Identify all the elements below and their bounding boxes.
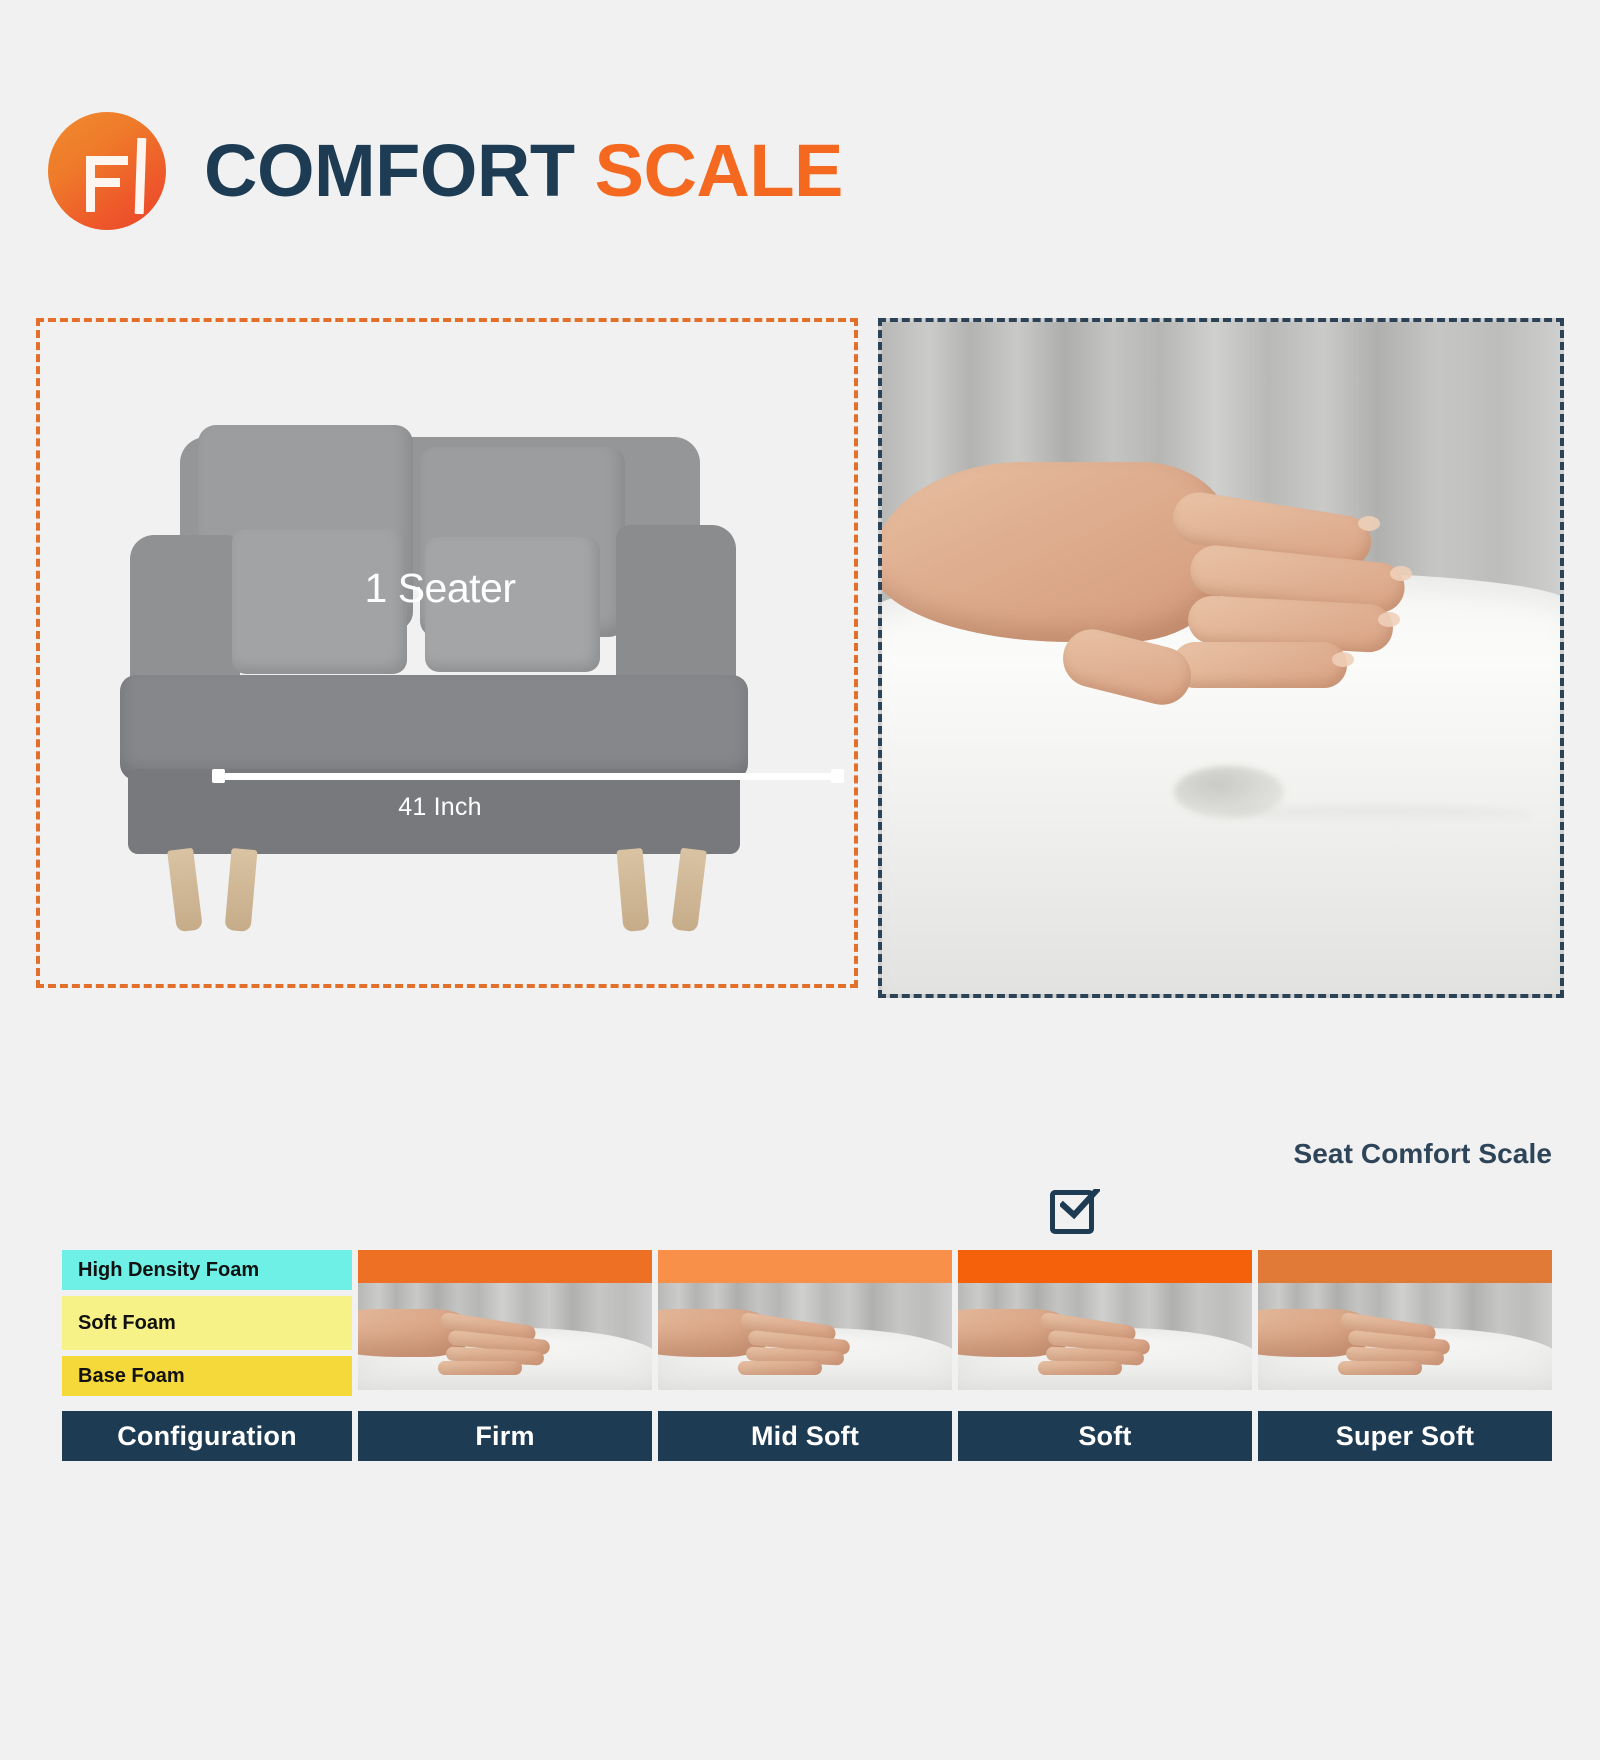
dimension-label: 41 Inch [120, 793, 760, 822]
table-header-row: Configuration Firm Mid Soft Soft Super S… [62, 1411, 1552, 1461]
dimension-line [212, 769, 844, 783]
page-title-word-1: COMFORT [204, 129, 575, 212]
layer-label-high-density-foam: High Density Foam [62, 1250, 352, 1290]
page-header: COMFORT SCALE [48, 112, 843, 230]
thumb-soft [958, 1283, 1252, 1390]
page-title-word-2: SCALE [595, 129, 843, 212]
check-mark-icon [1060, 1189, 1100, 1219]
layer-label-base-foam: Base Foam [62, 1356, 352, 1396]
hand-pressing-foam-photo [882, 322, 1560, 994]
panels-row: 1 Seater 41 Inch [36, 318, 1564, 998]
strip-firm [358, 1250, 652, 1283]
strip-super-soft [1258, 1250, 1552, 1283]
comfort-cell-soft[interactable] [958, 1250, 1252, 1390]
sofa-1-seater-icon: 1 Seater 41 Inch [120, 417, 760, 917]
foam-layer-labels: High Density Foam Soft Foam Base Foam [62, 1250, 352, 1396]
foam-photo-panel [878, 318, 1564, 998]
comfort-cell-mid-soft[interactable] [658, 1250, 952, 1390]
comfort-scale-table: High Density Foam Soft Foam Base Foam [62, 1250, 1552, 1461]
table-thumbnail-row: High Density Foam Soft Foam Base Foam [62, 1250, 1552, 1396]
layer-label-soft-foam: Soft Foam [62, 1296, 352, 1350]
strip-mid-soft [658, 1250, 952, 1283]
seater-label: 1 Seater [120, 565, 760, 612]
header-soft[interactable]: Soft [958, 1411, 1252, 1461]
thumb-mid-soft [658, 1283, 952, 1390]
comfort-scale-infographic: COMFORT SCALE 1 Seater [0, 0, 1600, 1760]
header-super-soft[interactable]: Super Soft [1258, 1411, 1552, 1461]
strip-soft [958, 1250, 1252, 1283]
product-panel: 1 Seater 41 Inch [36, 318, 858, 988]
thumb-super-soft [1258, 1283, 1552, 1390]
thumb-firm [358, 1283, 652, 1390]
hand-icon [878, 462, 1432, 752]
header-mid-soft[interactable]: Mid Soft [658, 1411, 952, 1461]
header-firm[interactable]: Firm [358, 1411, 652, 1461]
checked-checkbox-icon[interactable] [1050, 1190, 1094, 1234]
header-configuration: Configuration [62, 1411, 352, 1461]
comfort-cell-super-soft[interactable] [1258, 1250, 1552, 1390]
comfort-cell-firm[interactable] [358, 1250, 652, 1390]
page-title: COMFORT SCALE [204, 134, 843, 208]
selected-column-check[interactable] [1050, 1190, 1110, 1246]
seat-comfort-scale-title: Seat Comfort Scale [1293, 1138, 1552, 1170]
fi-monogram-icon [48, 112, 166, 230]
